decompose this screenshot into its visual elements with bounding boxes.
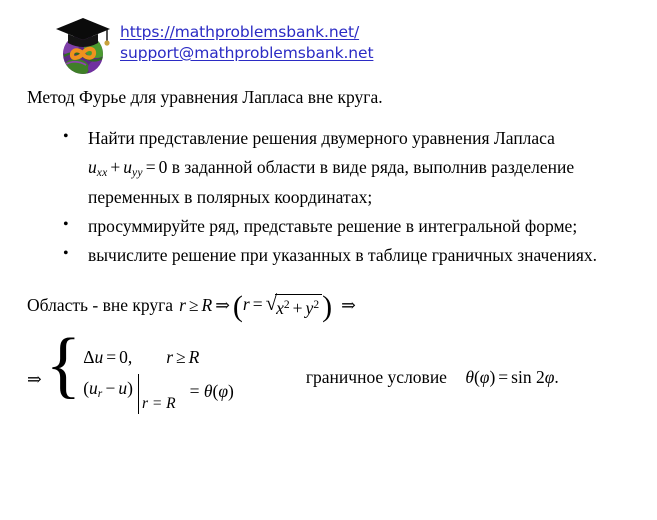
boundary-value-problem-system: ⇒ { Δu=0, r≥R (ur−u) r = R = θ(φ) гранич… xyxy=(27,345,633,414)
comma: , xyxy=(128,347,132,367)
delta-icon: Δ xyxy=(83,347,94,367)
evaluation-bar-icon xyxy=(138,374,139,414)
bullet-dot-icon: • xyxy=(63,241,69,267)
region-label: Область - вне круга xyxy=(27,293,173,318)
zero-value: 0 xyxy=(119,347,128,367)
y-exponent: 2 xyxy=(313,299,319,311)
r-symbol: r xyxy=(179,295,186,315)
boundary-function-value: = θ(φ) xyxy=(190,378,234,402)
document-body: Метод Фурье для уравнения Лапласа вне кр… xyxy=(27,86,633,414)
bullet-dot-icon: • xyxy=(63,212,69,238)
mathproblemsbank-logo xyxy=(52,12,114,78)
bullet-compute-solution: • вычислите решение при указанных в табл… xyxy=(27,241,633,269)
equation-1-condition: r≥R xyxy=(166,347,199,368)
boundary-condition-formula: θ(φ)=sin 2φ. xyxy=(465,367,558,387)
u-symbol: u xyxy=(89,378,98,398)
region-definition-line: Область - вне круга r≥R ⇒ ( r=√x2+y2 ) ⇒ xyxy=(27,292,633,320)
boundary-operator-expression: (ur−u) xyxy=(83,378,133,400)
subscript-yy: yy xyxy=(132,167,143,179)
equals-operator: = xyxy=(190,381,200,401)
system-lead-arrow: ⇒ xyxy=(27,345,46,390)
geq-operator: ≥ xyxy=(186,295,202,315)
x-exponent: 2 xyxy=(284,299,290,311)
R-symbol: R xyxy=(202,295,213,315)
radicand: x2+y2 xyxy=(275,294,322,321)
evaluation-subscript: r = R xyxy=(142,395,176,414)
u-symbol: u xyxy=(94,347,103,367)
u-symbol-2: u xyxy=(118,378,127,398)
bullet-text-part-1: Найти представление решения двумерного у… xyxy=(88,128,555,148)
bullet-text: просуммируйте ряд, представьте решение в… xyxy=(88,216,577,236)
geq-operator: ≥ xyxy=(173,347,189,367)
bullet-text: вычислите решение при указанных в таблиц… xyxy=(88,245,597,265)
plus-operator: + xyxy=(107,157,123,177)
u-symbol: u xyxy=(88,157,97,177)
r-symbol: r xyxy=(166,347,173,367)
bullet-dot-icon: • xyxy=(63,124,69,150)
implies-arrow-2: ⇒ xyxy=(338,293,359,318)
equals-operator: = xyxy=(250,294,266,314)
x-symbol: x xyxy=(276,298,284,318)
plus-operator-2: + xyxy=(290,298,306,318)
equals-operator: = xyxy=(103,347,119,367)
boundary-condition-label: граничное условие xyxy=(306,367,447,387)
bullet-find-series-representation: • Найти представление решения двумерного… xyxy=(27,124,633,211)
bullet-sum-series: • просуммируйте ряд, представьте решение… xyxy=(27,212,633,240)
square-root-expression: √x2+y2 xyxy=(266,294,323,321)
radius-expression: r=√x2+y2 xyxy=(243,292,322,320)
boundary-condition-note: граничное условие θ(φ)=sin 2φ. xyxy=(306,345,559,388)
equals-operator: = xyxy=(495,367,511,387)
system-equation-1-row: Δu=0, r≥R xyxy=(83,347,234,368)
support-email-link[interactable]: support@mathproblemsbank.net xyxy=(120,43,373,64)
zero-value: 0 xyxy=(159,157,168,177)
minus-operator: − xyxy=(102,378,118,398)
theta-symbol: θ xyxy=(204,381,213,401)
bullet-text: Найти представление решения двумерного у… xyxy=(88,128,574,206)
radical-icon: √ xyxy=(266,293,278,320)
phi-symbol-2: φ xyxy=(545,367,555,387)
r-symbol-2: r xyxy=(243,294,250,314)
phi-symbol: φ xyxy=(218,381,228,401)
right-paren: ) xyxy=(127,378,133,398)
implies-arrow-1: ⇒ xyxy=(212,293,233,318)
u-symbol-2: u xyxy=(123,157,132,177)
region-condition: r≥R xyxy=(179,293,212,318)
period: . xyxy=(554,367,558,387)
laplace-equation-formula: uxx+uyy=0 xyxy=(88,157,167,177)
sin-function: sin xyxy=(511,367,531,387)
document-header: https://mathproblemsbank.net/ support@ma… xyxy=(52,12,373,78)
theta-symbol: θ xyxy=(465,367,474,387)
phi-symbol: φ xyxy=(480,367,490,387)
subscript-xx: xx xyxy=(97,167,108,179)
site-url-link[interactable]: https://mathproblemsbank.net/ xyxy=(120,22,373,43)
contact-links: https://mathproblemsbank.net/ support@ma… xyxy=(120,22,373,64)
equals-operator: = xyxy=(143,157,159,177)
intro-heading: Метод Фурье для уравнения Лапласа вне кр… xyxy=(27,86,633,108)
task-bullet-list: • Найти представление решения двумерного… xyxy=(27,124,633,269)
coefficient-two: 2 xyxy=(536,367,545,387)
right-paren-2: ) xyxy=(228,381,234,401)
system-equations: Δu=0, r≥R (ur−u) r = R = θ(φ) xyxy=(83,345,234,414)
document-page: https://mathproblemsbank.net/ support@ma… xyxy=(0,0,657,520)
R-symbol: R xyxy=(189,347,200,367)
laplace-operator-equation: Δu=0, xyxy=(83,347,132,368)
system-brace-icon: { xyxy=(46,339,82,392)
system-equation-2-row: (ur−u) r = R = θ(φ) xyxy=(83,378,234,414)
